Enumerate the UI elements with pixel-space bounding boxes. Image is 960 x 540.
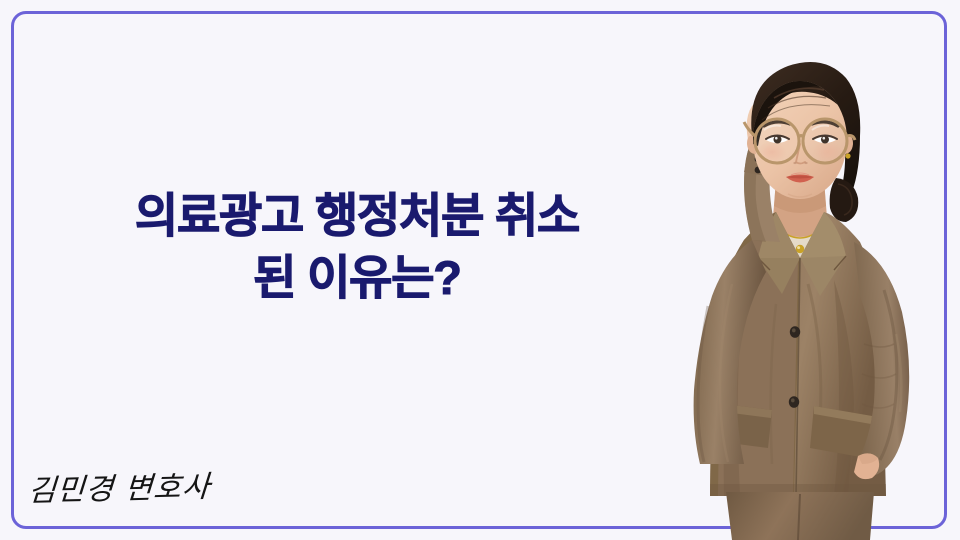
page-title: 의료광고 행정처분 취소 된 이유는? (40, 185, 674, 309)
headline-line-1: 의료광고 행정처분 취소 (40, 185, 674, 247)
presenter-photo: 김민경 변호사 - 안경을 고쳐 쓰는 포즈의 여성 변호사 사진 (648, 44, 960, 540)
headline-line-2: 된 이유는? (40, 247, 674, 309)
presenter-name-caption: 김민경 변호사 (27, 462, 212, 510)
promo-card: 의료광고 행정처분 취소 된 이유는? 김민경 변호사 김민경 변호사 - 안경… (0, 0, 960, 540)
